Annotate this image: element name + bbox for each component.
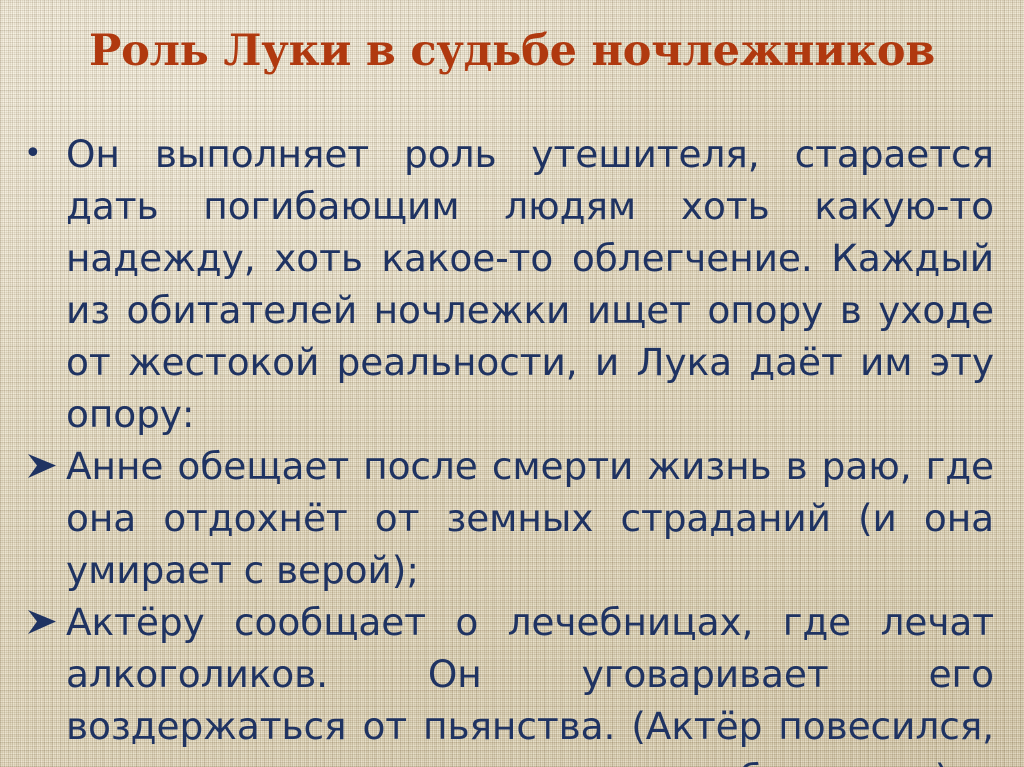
presentation-slide: Роль Луки в судьбе ночлежников • Он выпо… bbox=[0, 0, 1024, 767]
bullet-text: Актёру сообщает о лечебницах, где лечат … bbox=[66, 600, 994, 767]
bullet-item: • Он выполняет роль утешителя, старается… bbox=[14, 128, 994, 440]
slide-body-list: • Он выполняет роль утешителя, старается… bbox=[14, 128, 994, 767]
slide-title: Роль Луки в судьбе ночлежников bbox=[30, 26, 994, 77]
bullet-arrow-icon bbox=[26, 451, 60, 481]
slide-content: Роль Луки в судьбе ночлежников • Он выпо… bbox=[0, 0, 1024, 767]
bullet-arrow-icon bbox=[26, 607, 60, 637]
bullet-dot-icon: • bbox=[24, 128, 66, 180]
bullet-item: Актёру сообщает о лечебницах, где лечат … bbox=[14, 596, 994, 767]
bullet-text: Он выполняет роль утешителя, старается д… bbox=[66, 132, 994, 436]
bullet-text: Анне обещает после смерти жизнь в раю, г… bbox=[66, 444, 994, 592]
bullet-item: Анне обещает после смерти жизнь в раю, г… bbox=[14, 440, 994, 596]
